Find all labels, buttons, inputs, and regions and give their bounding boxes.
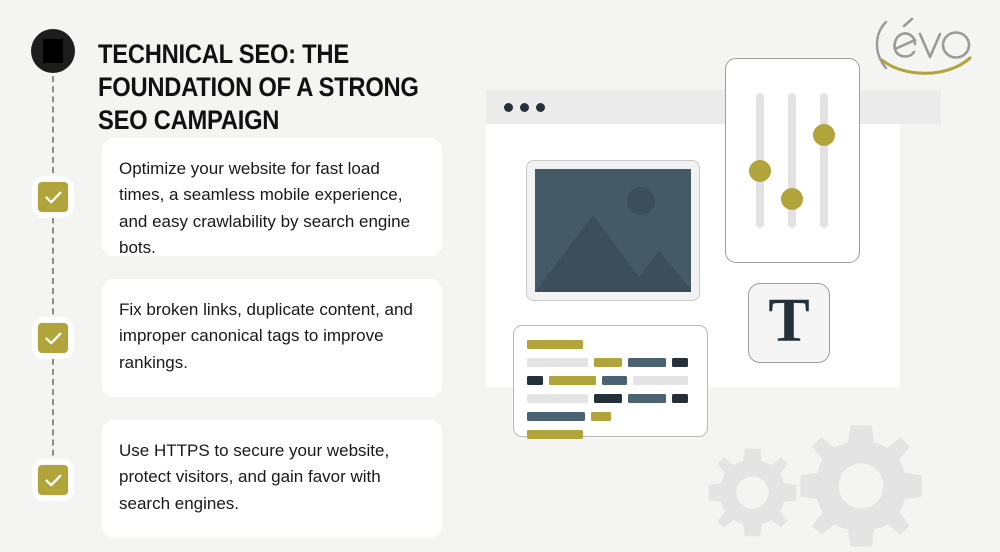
code-bar bbox=[602, 376, 627, 385]
code-bar bbox=[672, 394, 688, 403]
list-item-text: Use HTTPS to secure your website, protec… bbox=[119, 438, 422, 517]
timeline-check-marker-3 bbox=[37, 464, 69, 496]
code-bar bbox=[633, 376, 688, 385]
settings-sliders-panel bbox=[725, 58, 860, 263]
list-item: Fix broken links, duplicate content, and… bbox=[102, 279, 442, 397]
list-item: Use HTTPS to secure your website, protec… bbox=[102, 420, 442, 538]
code-bar bbox=[527, 340, 583, 349]
typography-card: T bbox=[748, 283, 830, 363]
code-row bbox=[527, 394, 694, 403]
code-bar bbox=[594, 394, 622, 403]
gear-icon bbox=[705, 445, 800, 545]
window-dot-icon bbox=[536, 103, 545, 112]
timeline-check-marker-1 bbox=[37, 181, 69, 213]
check-icon bbox=[38, 465, 68, 495]
list-item: Optimize your website for fast load time… bbox=[102, 138, 442, 256]
brand-logo bbox=[868, 14, 980, 76]
timeline-check-marker-2 bbox=[37, 322, 69, 354]
code-row bbox=[527, 376, 694, 385]
slider-knob[interactable] bbox=[749, 160, 771, 182]
code-bar bbox=[628, 358, 666, 367]
code-row bbox=[527, 358, 694, 367]
code-bar bbox=[527, 430, 583, 439]
timeline-dashed-rail bbox=[52, 56, 56, 496]
code-bar bbox=[591, 412, 611, 421]
typography-glyph: T bbox=[768, 290, 809, 352]
image-placeholder-card bbox=[526, 160, 700, 301]
gear-icon bbox=[795, 420, 927, 552]
slider-knob[interactable] bbox=[813, 124, 835, 146]
code-row bbox=[527, 430, 694, 439]
code-bar bbox=[527, 412, 585, 421]
code-row bbox=[527, 340, 694, 349]
page-title: TECHNICAL SEO: THE FOUNDATION OF A STRON… bbox=[98, 38, 424, 137]
code-bar bbox=[549, 376, 596, 385]
window-dot-icon bbox=[520, 103, 529, 112]
code-lines-card bbox=[513, 325, 708, 437]
illustration-area: T bbox=[460, 0, 1000, 552]
timeline-start-square-icon bbox=[43, 39, 63, 63]
code-bar bbox=[594, 358, 622, 367]
slider-track[interactable] bbox=[820, 93, 828, 228]
code-bar bbox=[527, 376, 543, 385]
slider-knob[interactable] bbox=[781, 188, 803, 210]
timeline-start-node bbox=[31, 29, 75, 73]
check-icon bbox=[38, 323, 68, 353]
code-row bbox=[527, 412, 694, 421]
code-bar bbox=[672, 358, 688, 367]
list-item-text: Fix broken links, duplicate content, and… bbox=[119, 297, 422, 376]
code-bar bbox=[527, 358, 588, 367]
code-bar bbox=[527, 394, 588, 403]
infographic-slide: TECHNICAL SEO: THE FOUNDATION OF A STRON… bbox=[0, 0, 1000, 552]
code-bar bbox=[628, 394, 666, 403]
check-icon bbox=[38, 182, 68, 212]
image-placeholder-icon bbox=[535, 169, 691, 292]
window-dot-icon bbox=[504, 103, 513, 112]
list-item-text: Optimize your website for fast load time… bbox=[119, 156, 422, 261]
browser-bar-extension bbox=[900, 90, 941, 124]
